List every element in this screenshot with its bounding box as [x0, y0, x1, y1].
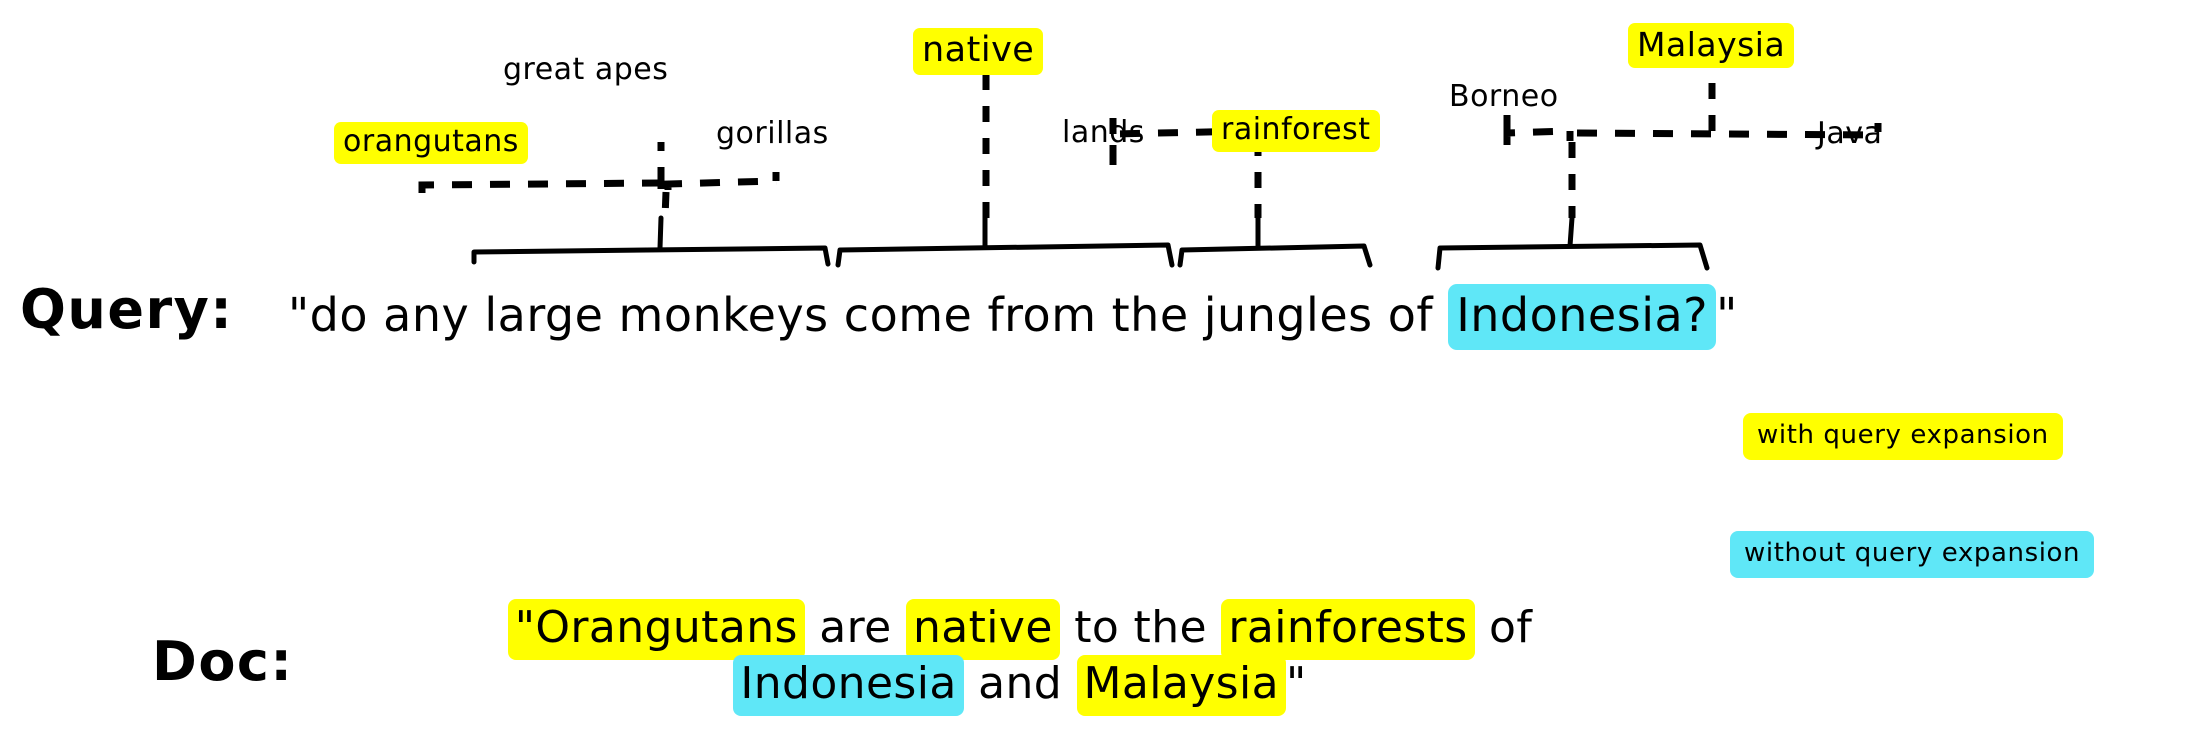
- diagram-canvas: orangutans great apes gorillas native la…: [0, 0, 2185, 743]
- doc-token-native: native: [906, 599, 1060, 660]
- expansion-term-java[interactable]: Java: [1817, 119, 1882, 149]
- query-token-any: any: [383, 288, 469, 342]
- query-token-monkeys: monkeys: [619, 288, 829, 342]
- expansion-term-borneo[interactable]: Borneo: [1449, 82, 1559, 112]
- query-token-indonesia: Indonesia?: [1448, 284, 1716, 350]
- expansion-term-rainforest[interactable]: rainforest: [1212, 110, 1380, 152]
- doc-token-to-the: to the: [1074, 602, 1207, 653]
- doc-token-malaysia: Malaysia: [1077, 655, 1286, 716]
- expansion-term-gorillas[interactable]: gorillas: [716, 119, 829, 149]
- expansion-term-malaysia[interactable]: Malaysia: [1628, 23, 1794, 68]
- bracket-jungles: [1180, 218, 1370, 265]
- doc-row-label: Doc:: [152, 630, 294, 693]
- query-token-the: the: [1112, 288, 1189, 342]
- doc-sentence-line-2: Indonesia and Malaysia": [420, 656, 1620, 712]
- doc-token-and: and: [978, 658, 1062, 709]
- doc-token-indonesia: Indonesia: [733, 655, 963, 716]
- query-token-from: from: [987, 288, 1096, 342]
- bracket-indonesia: [1438, 218, 1707, 268]
- query-token-close-quote: ": [1716, 288, 1738, 342]
- query-sentence: "do any large monkeys come from the jung…: [288, 288, 1738, 342]
- query-token-do: "do: [288, 288, 368, 342]
- doc-sentence: "Orangutans are native to the rainforest…: [420, 600, 1620, 713]
- doc-token-of: of: [1489, 602, 1532, 653]
- bracket-large-monkeys: [474, 218, 828, 264]
- query-token-of: of: [1388, 288, 1433, 342]
- doc-token-rainforests: rainforests: [1221, 599, 1474, 660]
- query-row-label: Query:: [20, 278, 233, 341]
- query-token-come: come: [844, 288, 973, 342]
- doc-token-are: are: [819, 602, 891, 653]
- legend-with-query-expansion: with query expansion: [1743, 413, 2063, 460]
- expansion-term-lands[interactable]: lands: [1062, 118, 1145, 148]
- expansion-term-orangutans[interactable]: orangutans: [334, 122, 528, 164]
- doc-token-close-quote: ": [1286, 658, 1307, 709]
- query-token-jungles: jungles: [1204, 288, 1373, 342]
- doc-token-orangutans: "Orangutans: [508, 599, 805, 660]
- query-token-large: large: [484, 288, 603, 342]
- bracket-come-from-the: [838, 218, 1172, 265]
- legend-without-query-expansion: without query expansion: [1730, 531, 2094, 578]
- expansion-term-native[interactable]: native: [913, 28, 1043, 75]
- expansion-term-great-apes[interactable]: great apes: [503, 55, 668, 85]
- doc-sentence-line-1: "Orangutans are native to the rainforest…: [420, 600, 1620, 656]
